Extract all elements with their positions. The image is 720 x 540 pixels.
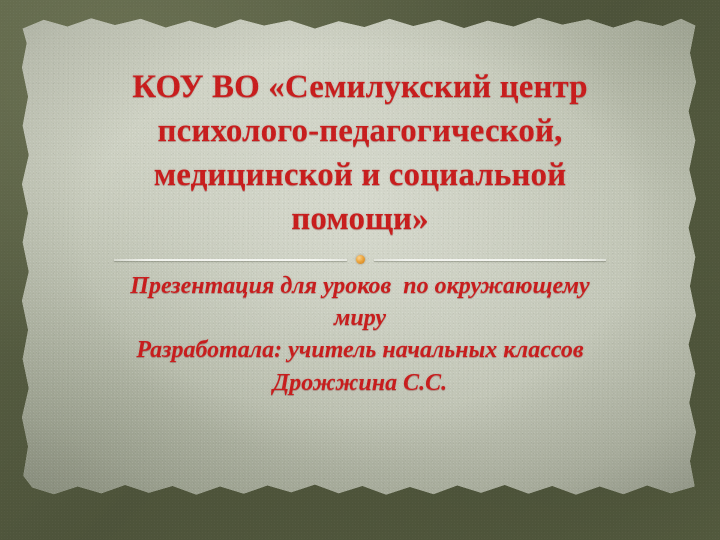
- slide-content: КОУ ВО «Семилукский центр психолого-педа…: [0, 0, 720, 540]
- title-line-4: помощи»: [34, 198, 686, 242]
- slide-subtitle: Презентация для уроков по окружающему ми…: [34, 270, 686, 400]
- subtitle-line-1: Презентация для уроков по окружающему: [34, 270, 686, 302]
- subtitle-line-4: Дрожжина С.С.: [34, 367, 686, 399]
- subtitle-line-3: Разработала: учитель начальных классов: [34, 334, 686, 366]
- subtitle-line-2: миру: [34, 302, 686, 334]
- decorative-divider: [114, 254, 606, 266]
- presentation-title-slide: КОУ ВО «Семилукский центр психолого-педа…: [0, 0, 720, 540]
- divider-dot-icon: [356, 255, 365, 264]
- title-line-2: психолого-педагогической,: [34, 110, 686, 154]
- title-line-3: медицинской и социальной: [34, 154, 686, 198]
- title-line-1: КОУ ВО «Семилукский центр: [34, 66, 686, 110]
- slide-title: КОУ ВО «Семилукский центр психолого-педа…: [34, 0, 686, 242]
- divider-line-right: [374, 259, 607, 261]
- divider-line-left: [114, 259, 347, 261]
